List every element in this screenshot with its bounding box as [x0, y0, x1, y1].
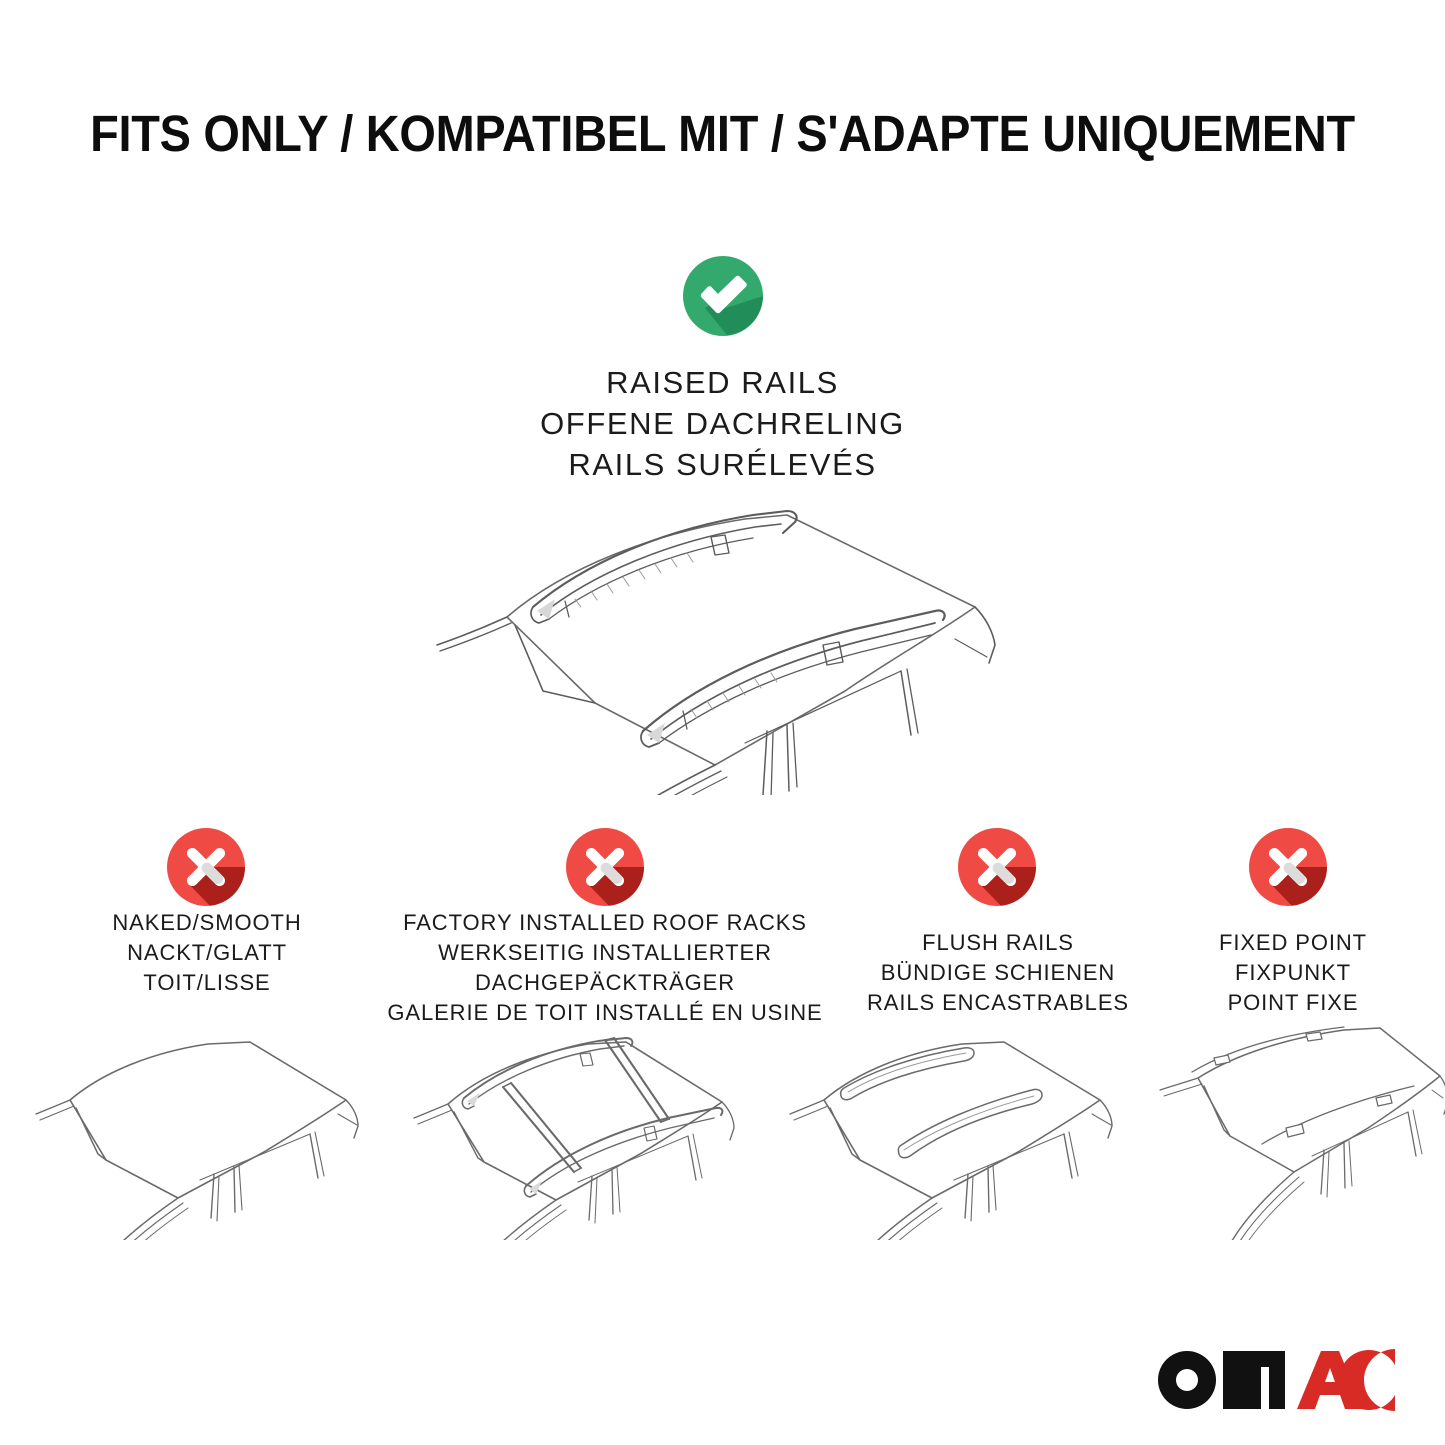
caption-line: RAILS ENCASTRABLES — [838, 988, 1158, 1018]
naked-smooth-caption: NAKED/SMOOTH NACKT/GLATT TOIT/LISSE — [26, 908, 388, 998]
cross-circle-icon — [167, 828, 245, 906]
caption-line: NAKED/SMOOTH — [26, 908, 388, 938]
fixed-point-caption: FIXED POINT FIXPUNKT POINT FIXE — [1158, 928, 1428, 1018]
caption-line: WERKSEITIG INSTALLIERTER — [370, 938, 840, 968]
car-roof-factory-roof-racks-illustration — [398, 1010, 760, 1240]
cross-circle-icon — [958, 828, 1036, 906]
caption-line: FACTORY INSTALLED ROOF RACKS — [370, 908, 840, 938]
caption-line: BÜNDIGE SCHIENEN — [838, 958, 1158, 988]
caption-line: POINT FIXE — [1158, 988, 1428, 1018]
caption-line: FIXPUNKT — [1158, 958, 1428, 988]
car-roof-raised-rails-illustration — [415, 495, 1030, 795]
caption-line: RAISED RAILS — [0, 362, 1445, 403]
cross-circle-icon — [1249, 828, 1327, 906]
compatibility-infographic: FITS ONLY / KOMPATIBEL MIT / S'ADAPTE UN… — [0, 0, 1445, 1445]
caption-line: FLUSH RAILS — [838, 928, 1158, 958]
compatible-caption: RAISED RAILS OFFENE DACHRELING RAILS SUR… — [0, 362, 1445, 486]
caption-line: OFFENE DACHRELING — [0, 403, 1445, 444]
caption-line: TOIT/LISSE — [26, 968, 388, 998]
car-roof-naked-smooth-illustration — [28, 1022, 380, 1240]
flush-rails-caption: FLUSH RAILS BÜNDIGE SCHIENEN RAILS ENCAS… — [838, 928, 1158, 1018]
caption-line: RAILS SURÉLEVÉS — [0, 444, 1445, 485]
omac-logo — [1149, 1343, 1397, 1417]
check-circle-icon — [683, 256, 763, 336]
caption-line: DACHGEPÄCKTRÄGER — [370, 968, 840, 998]
cross-circle-icon — [566, 828, 644, 906]
car-roof-fixed-point-illustration — [1152, 1016, 1445, 1240]
page-title: FITS ONLY / KOMPATIBEL MIT / S'ADAPTE UN… — [58, 104, 1387, 163]
caption-line: NACKT/GLATT — [26, 938, 388, 968]
caption-line: FIXED POINT — [1158, 928, 1428, 958]
car-roof-flush-rails-illustration — [782, 1022, 1134, 1240]
